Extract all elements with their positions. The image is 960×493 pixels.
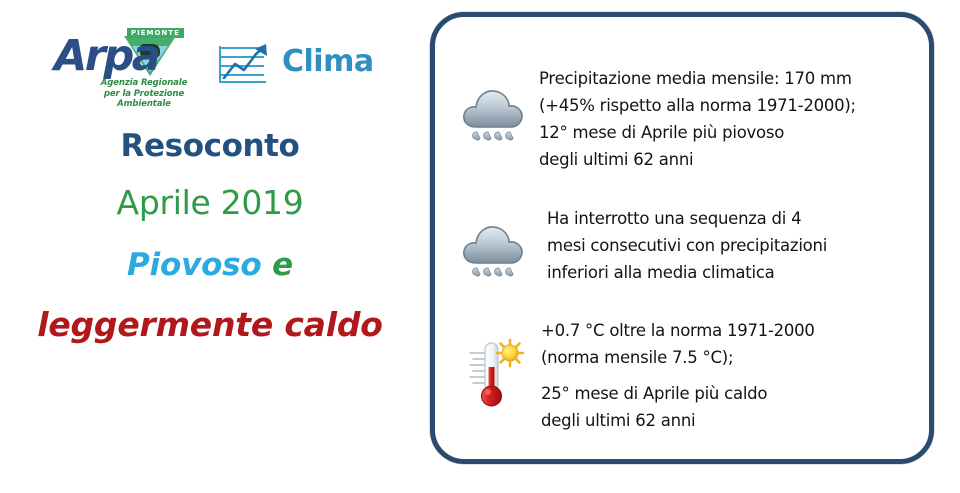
headline-summary-conjunction: e xyxy=(272,247,293,283)
left-panel: Arpa PIEMONTE Agenzia Regionale per la P… xyxy=(0,0,420,493)
arpa-subtitle: Agenzia Regionale per la Protezione Ambi… xyxy=(80,78,208,110)
info-row-temperature-text: +0.7 °C oltre la norma 1971-2000 (norma … xyxy=(539,317,923,434)
info-row-sequence-text: Ha interrotto una sequenza di 4 mesi con… xyxy=(539,205,923,286)
temp-text-gap xyxy=(541,371,923,380)
info-row-precipitation: Precipitazione media mensile: 170 mm (+4… xyxy=(453,65,923,173)
precip-line-1: Precipitazione media mensile: 170 mm xyxy=(539,65,923,92)
info-row-precipitation-text: Precipitazione media mensile: 170 mm (+4… xyxy=(539,65,923,173)
headline-period: Aprile 2019 xyxy=(0,172,420,234)
precip-line-2: (+45% rispetto alla norma 1971-2000); xyxy=(539,92,923,119)
headline-stack: Resoconto Aprile 2019 Piovoso e leggerme… xyxy=(0,120,420,354)
sequence-line-2: mesi consecutivi con precipitazioni xyxy=(547,232,923,259)
clima-label: Clima xyxy=(282,43,374,81)
temp-line-1: +0.7 °C oltre la norma 1971-2000 xyxy=(541,317,923,344)
arpa-region-banner: PIEMONTE xyxy=(127,28,184,38)
temp-line-2: (norma mensile 7.5 °C); xyxy=(541,344,923,371)
headline-summary-rain-line: Piovoso e xyxy=(0,234,420,296)
clima-logo: Clima xyxy=(214,42,390,88)
sequence-line-1: Ha interrotto una sequenza di 4 xyxy=(547,205,923,232)
headline-summary-rain: Piovoso xyxy=(127,247,262,283)
sequence-line-3: inferiori alla media climatica xyxy=(547,259,923,286)
precip-line-3: 12° mese di Aprile più piovoso xyxy=(539,119,923,146)
info-box: Precipitazione media mensile: 170 mm (+4… xyxy=(430,12,934,464)
arpa-subtitle-line-2: per la Protezione Ambientale xyxy=(104,89,184,110)
headline-summary-warm: leggermente caldo xyxy=(0,296,420,354)
arpa-piemonte-logo: Arpa PIEMONTE Agenzia Regionale per la P… xyxy=(54,28,206,100)
temp-line-4: degli ultimi 62 anni xyxy=(541,407,923,434)
headline-report: Resoconto xyxy=(0,120,420,172)
logo-row: Arpa PIEMONTE Agenzia Regionale per la P… xyxy=(54,28,384,100)
precip-line-4: degli ultimi 62 anni xyxy=(539,146,923,173)
arpa-subtitle-line-1: Agenzia Regionale xyxy=(101,78,188,88)
temp-line-3: 25° mese di Aprile più caldo xyxy=(541,380,923,407)
info-row-sequence: Ha interrotto una sequenza di 4 mesi con… xyxy=(453,205,923,286)
rain-cloud-icon xyxy=(453,205,539,281)
line-chart-up-icon xyxy=(214,42,274,88)
rain-cloud-icon xyxy=(453,65,539,145)
thermometer-sun-icon xyxy=(453,317,539,413)
info-row-temperature: +0.7 °C oltre la norma 1971-2000 (norma … xyxy=(453,317,923,434)
arpa-wordmark: Arpa xyxy=(54,34,158,78)
